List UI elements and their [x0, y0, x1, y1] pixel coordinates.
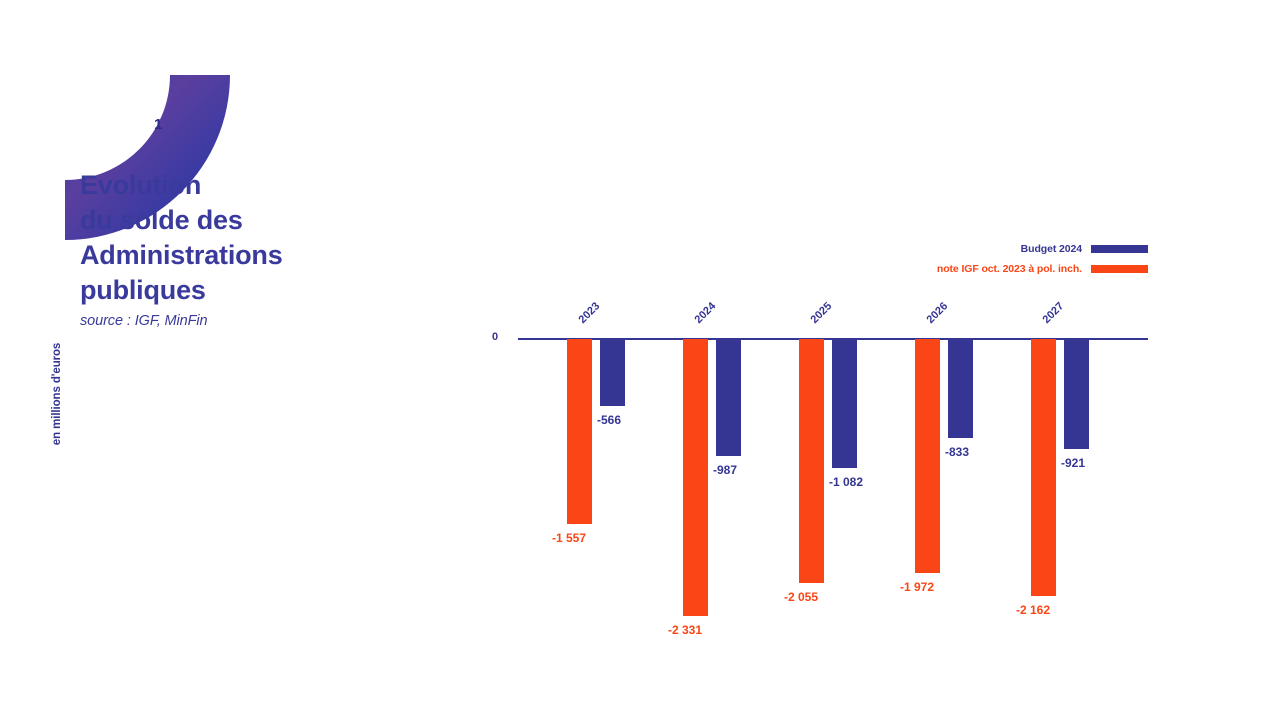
value-label-igf-2023: -1 557 — [552, 531, 586, 545]
bar-igf-2025[interactable] — [799, 339, 824, 583]
value-label-igf-2025: -2 055 — [784, 590, 818, 604]
value-label-budget-2027: -921 — [1061, 456, 1085, 470]
y-axis-label: en millions d'euros — [51, 329, 63, 459]
x-axis-label-2026: 2026 — [925, 300, 951, 326]
bar-igf-2027[interactable] — [1031, 339, 1056, 596]
bar-budget-2025[interactable] — [832, 339, 857, 468]
value-label-budget-2023: -566 — [597, 413, 621, 427]
slide-canvas: 1 Evolution du solde des Administrations… — [0, 0, 1280, 720]
value-label-igf-2024: -2 331 — [668, 623, 702, 637]
bar-budget-2026[interactable] — [948, 339, 973, 438]
value-label-budget-2025: -1 082 — [829, 475, 863, 489]
bar-budget-2027[interactable] — [1064, 339, 1089, 449]
bar-igf-2026[interactable] — [915, 339, 940, 573]
bar-igf-2024[interactable] — [683, 339, 708, 616]
bar-igf-2023[interactable] — [567, 339, 592, 524]
value-label-budget-2026: -833 — [945, 445, 969, 459]
x-axis-label-2025: 2025 — [809, 300, 835, 326]
y-axis-zero-tick: 0 — [492, 331, 498, 343]
value-label-igf-2027: -2 162 — [1016, 603, 1050, 617]
value-label-budget-2024: -987 — [713, 463, 737, 477]
bar-chart: en millions d'euros 0 2023-1 557-5662024… — [0, 0, 1280, 720]
value-label-igf-2026: -1 972 — [900, 580, 934, 594]
bar-budget-2024[interactable] — [716, 339, 741, 456]
bar-budget-2023[interactable] — [600, 339, 625, 406]
x-axis-label-2023: 2023 — [577, 300, 603, 326]
x-axis-label-2027: 2027 — [1041, 300, 1067, 326]
x-axis-label-2024: 2024 — [693, 300, 719, 326]
